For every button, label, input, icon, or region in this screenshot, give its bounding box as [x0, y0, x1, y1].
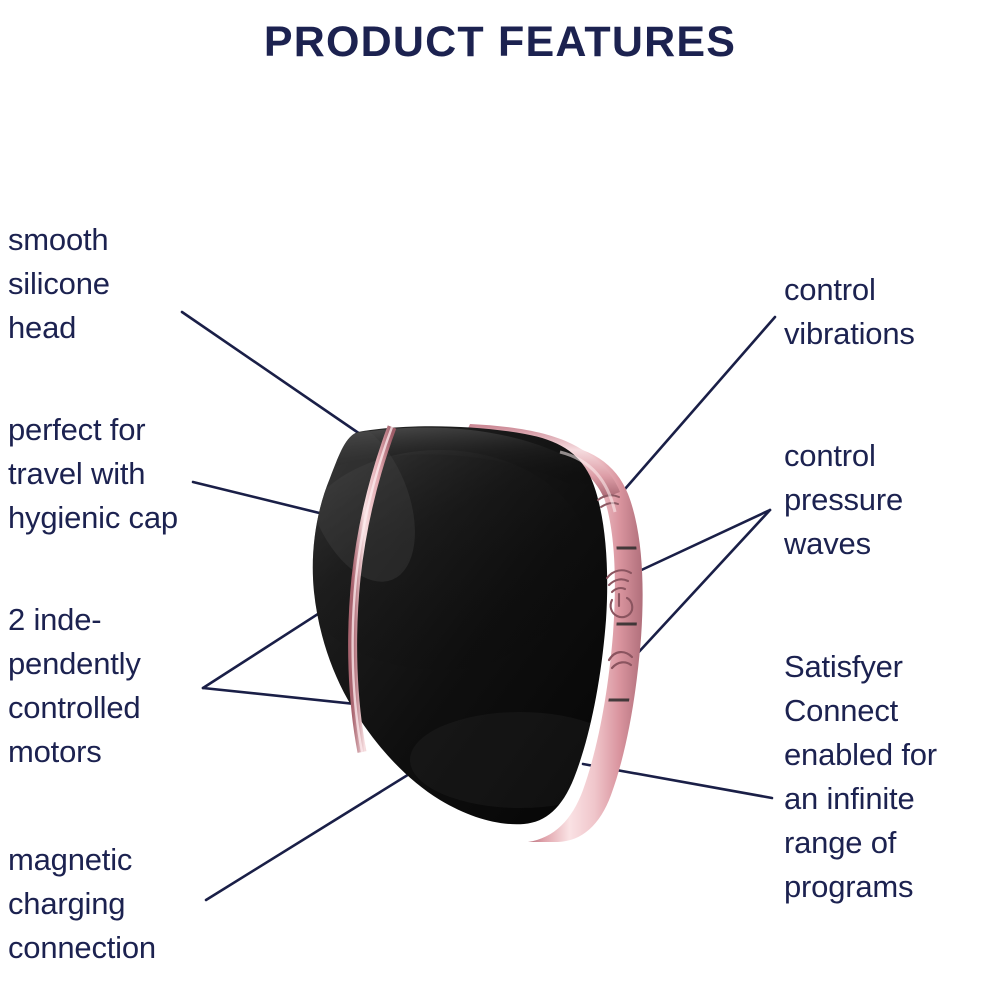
- callout-control-pressure-waves: control pressure waves: [784, 434, 999, 566]
- leader-line-pressure-upper: [620, 510, 770, 580]
- callout-independent-motors: 2 inde- pendently controlled motors: [8, 598, 258, 774]
- product-features-infographic: PRODUCT FEATURES: [0, 0, 1000, 1000]
- leader-line-pressure-lower: [636, 510, 770, 655]
- callout-travel-hygienic-cap: perfect for travel with hygienic cap: [8, 408, 263, 540]
- leader-line-control-vibrations: [611, 317, 775, 505]
- product-device: [283, 402, 652, 842]
- callout-satisfyer-connect: Satisfyer Connect enabled for an infinit…: [784, 645, 1000, 909]
- callout-magnetic-charging: magnetic charging connection: [8, 838, 263, 970]
- callout-smooth-silicone-head: smooth silicone head: [8, 218, 258, 350]
- callout-control-vibrations: control vibrations: [784, 268, 999, 356]
